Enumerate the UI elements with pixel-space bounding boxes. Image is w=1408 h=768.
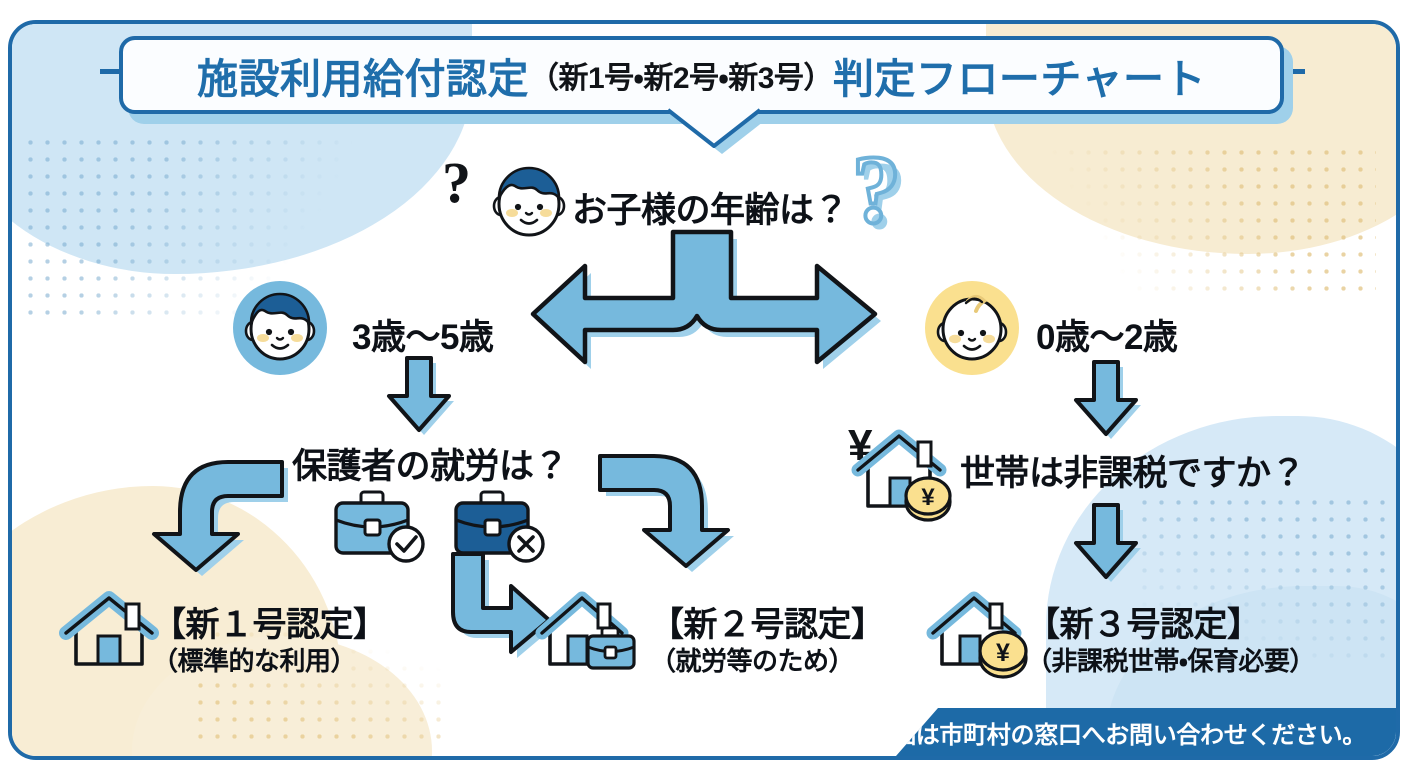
house-icon — [62, 588, 158, 670]
boy-face-icon — [242, 293, 318, 363]
big-question-mark-icon: ? ? — [848, 152, 918, 244]
house-briefcase-icon — [540, 588, 652, 672]
flowchart-infographic: 詳細は市町村の窓口へお問い合わせください。 施設利用給付認定 （新1号・新2号・… — [0, 0, 1408, 768]
down-arrow-right-icon — [1072, 362, 1150, 440]
title-main-lead: 施設利用給付認定 — [197, 45, 529, 105]
root-question-label: お子様の年齢は？ — [572, 182, 848, 233]
elbow-arrow-to-result1-icon — [150, 458, 300, 580]
right-branch-age-label: 0歳〜2歳 — [1036, 309, 1177, 360]
left-branch-age-label: 3歳〜5歳 — [352, 309, 493, 360]
small-question-mark-icon: ? — [440, 156, 486, 218]
split-arrow-icon — [545, 232, 890, 387]
result-3-sub: （非課税世帯・保育必要） — [1026, 641, 1315, 678]
result-2-main: 【新２号認定】 — [650, 597, 885, 646]
house-yen-icon: ¥ ¥ — [848, 420, 958, 516]
svg-text:¥: ¥ — [921, 484, 935, 511]
result-2-sub: （就労等のため） — [650, 641, 854, 678]
briefcase-check-icon — [332, 490, 430, 564]
baby-face-icon — [935, 293, 1009, 363]
boy-avatar-circle — [233, 281, 327, 375]
down-arrow-left-icon — [385, 358, 463, 436]
svg-text:?: ? — [442, 150, 471, 215]
footer-note-banner: 詳細は市町村の窓口へお問い合わせください。 — [896, 708, 1396, 756]
elbow-arrow-to-result2-icon — [590, 452, 745, 577]
house-coin-icon: ¥ — [930, 588, 1038, 672]
tax-question-label: 世帯は非課税ですか？ — [960, 445, 1305, 496]
down-arrow-right-2-icon — [1072, 505, 1150, 583]
title-paren: （新1号・新2号・新3号） — [529, 53, 833, 97]
svg-text:?: ? — [852, 136, 901, 244]
dot-pattern-top-right — [1046, 144, 1376, 294]
result-1-main: 【新１号認定】 — [152, 597, 387, 646]
work-question-label: 保護者の就労は？ — [292, 438, 568, 489]
boy-face-icon — [488, 166, 570, 238]
svg-text:¥: ¥ — [996, 639, 1010, 667]
page-title: 施設利用給付認定 （新1号・新2号・新3号） 判定フローチャート — [119, 36, 1284, 114]
title-pointer-notch — [668, 110, 778, 156]
result-3-main: 【新３号認定】 — [1026, 597, 1261, 646]
result-1-sub: （標準的な利用） — [152, 641, 356, 678]
baby-avatar-circle — [925, 281, 1019, 375]
title-main-tail: 判定フローチャート — [833, 45, 1206, 105]
footer-note-text: 詳細は市町村の窓口へお問い合わせください。 — [868, 715, 1366, 750]
